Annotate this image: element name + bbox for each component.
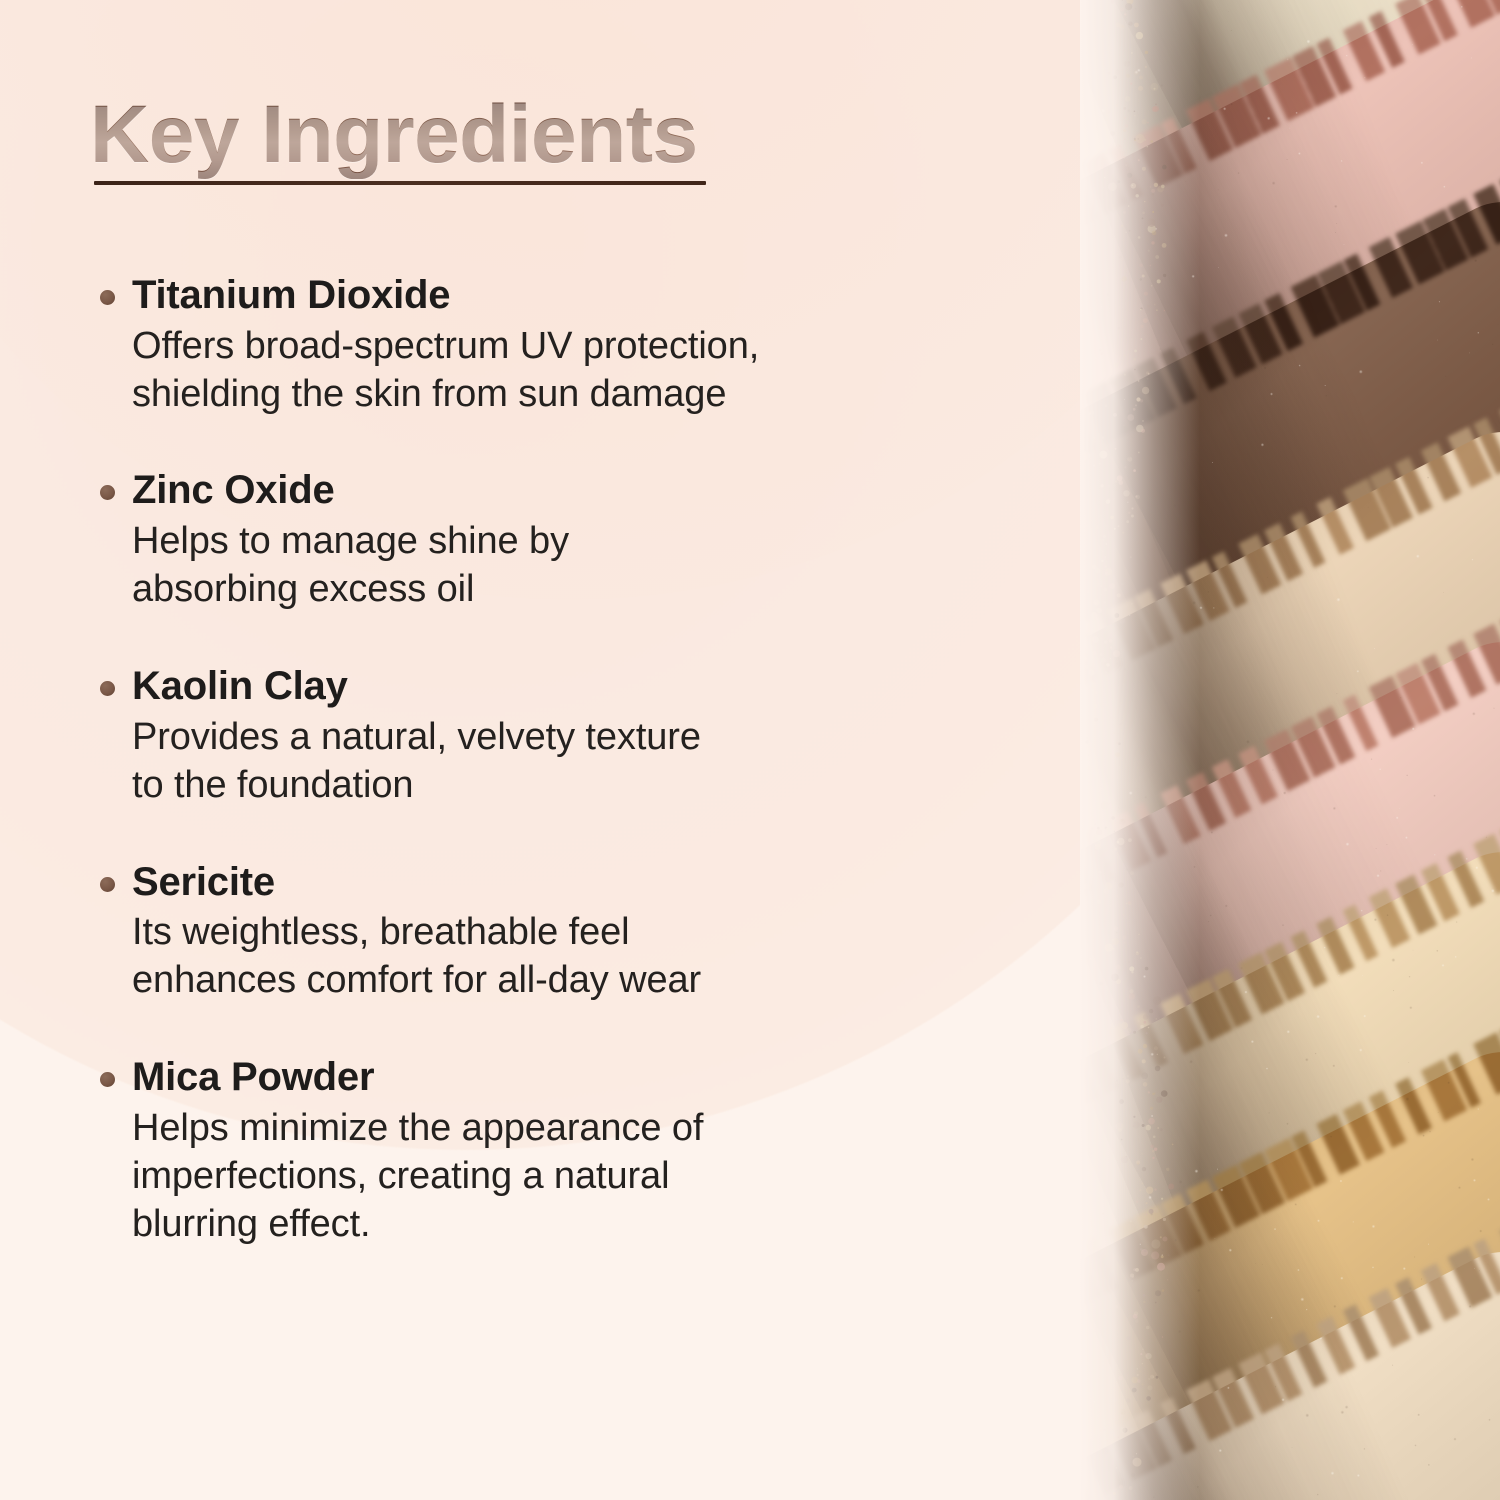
ingredients-list: Titanium Dioxide Offers broad-spectrum U… [90,271,990,1249]
bullet-dot-icon [100,877,115,892]
ingredient-name: Titanium Dioxide [132,271,990,320]
title-underline [94,181,706,185]
ingredient-description: Helps minimize the appearance of imperfe… [132,1105,990,1249]
list-item: Sericite Its weightless, breathable feel… [90,858,990,1006]
bullet-dot-icon [100,681,115,696]
list-item: Zinc Oxide Helps to manage shine by abso… [90,466,990,614]
title-block: Key Ingredients [90,92,698,191]
powder-swatch-image [1080,0,1500,1500]
page-title: Key Ingredients [90,92,698,179]
ingredient-description: Helps to manage shine by absorbing exces… [132,518,990,614]
ingredient-name: Mica Powder [132,1053,990,1102]
bullet-dot-icon [100,290,115,305]
ingredient-name: Zinc Oxide [132,466,990,515]
ingredient-name: Sericite [132,858,990,907]
list-item: Titanium Dioxide Offers broad-spectrum U… [90,271,990,419]
powder-left-fade [1080,0,1200,1500]
poster-canvas: Key Ingredients Titanium Dioxide Offers … [0,0,1500,1500]
ingredient-description: Its weightless, breathable feel enhances… [132,909,990,1005]
list-item: Mica Powder Helps minimize the appearanc… [90,1053,990,1248]
content-column: Key Ingredients Titanium Dioxide Offers … [90,92,990,1249]
bullet-dot-icon [100,485,115,500]
ingredient-description: Offers broad-spectrum UV protection, shi… [132,323,990,419]
bullet-dot-icon [100,1072,115,1087]
ingredient-name: Kaolin Clay [132,662,990,711]
list-item: Kaolin Clay Provides a natural, velvety … [90,662,990,810]
ingredient-description: Provides a natural, velvety texture to t… [132,714,990,810]
